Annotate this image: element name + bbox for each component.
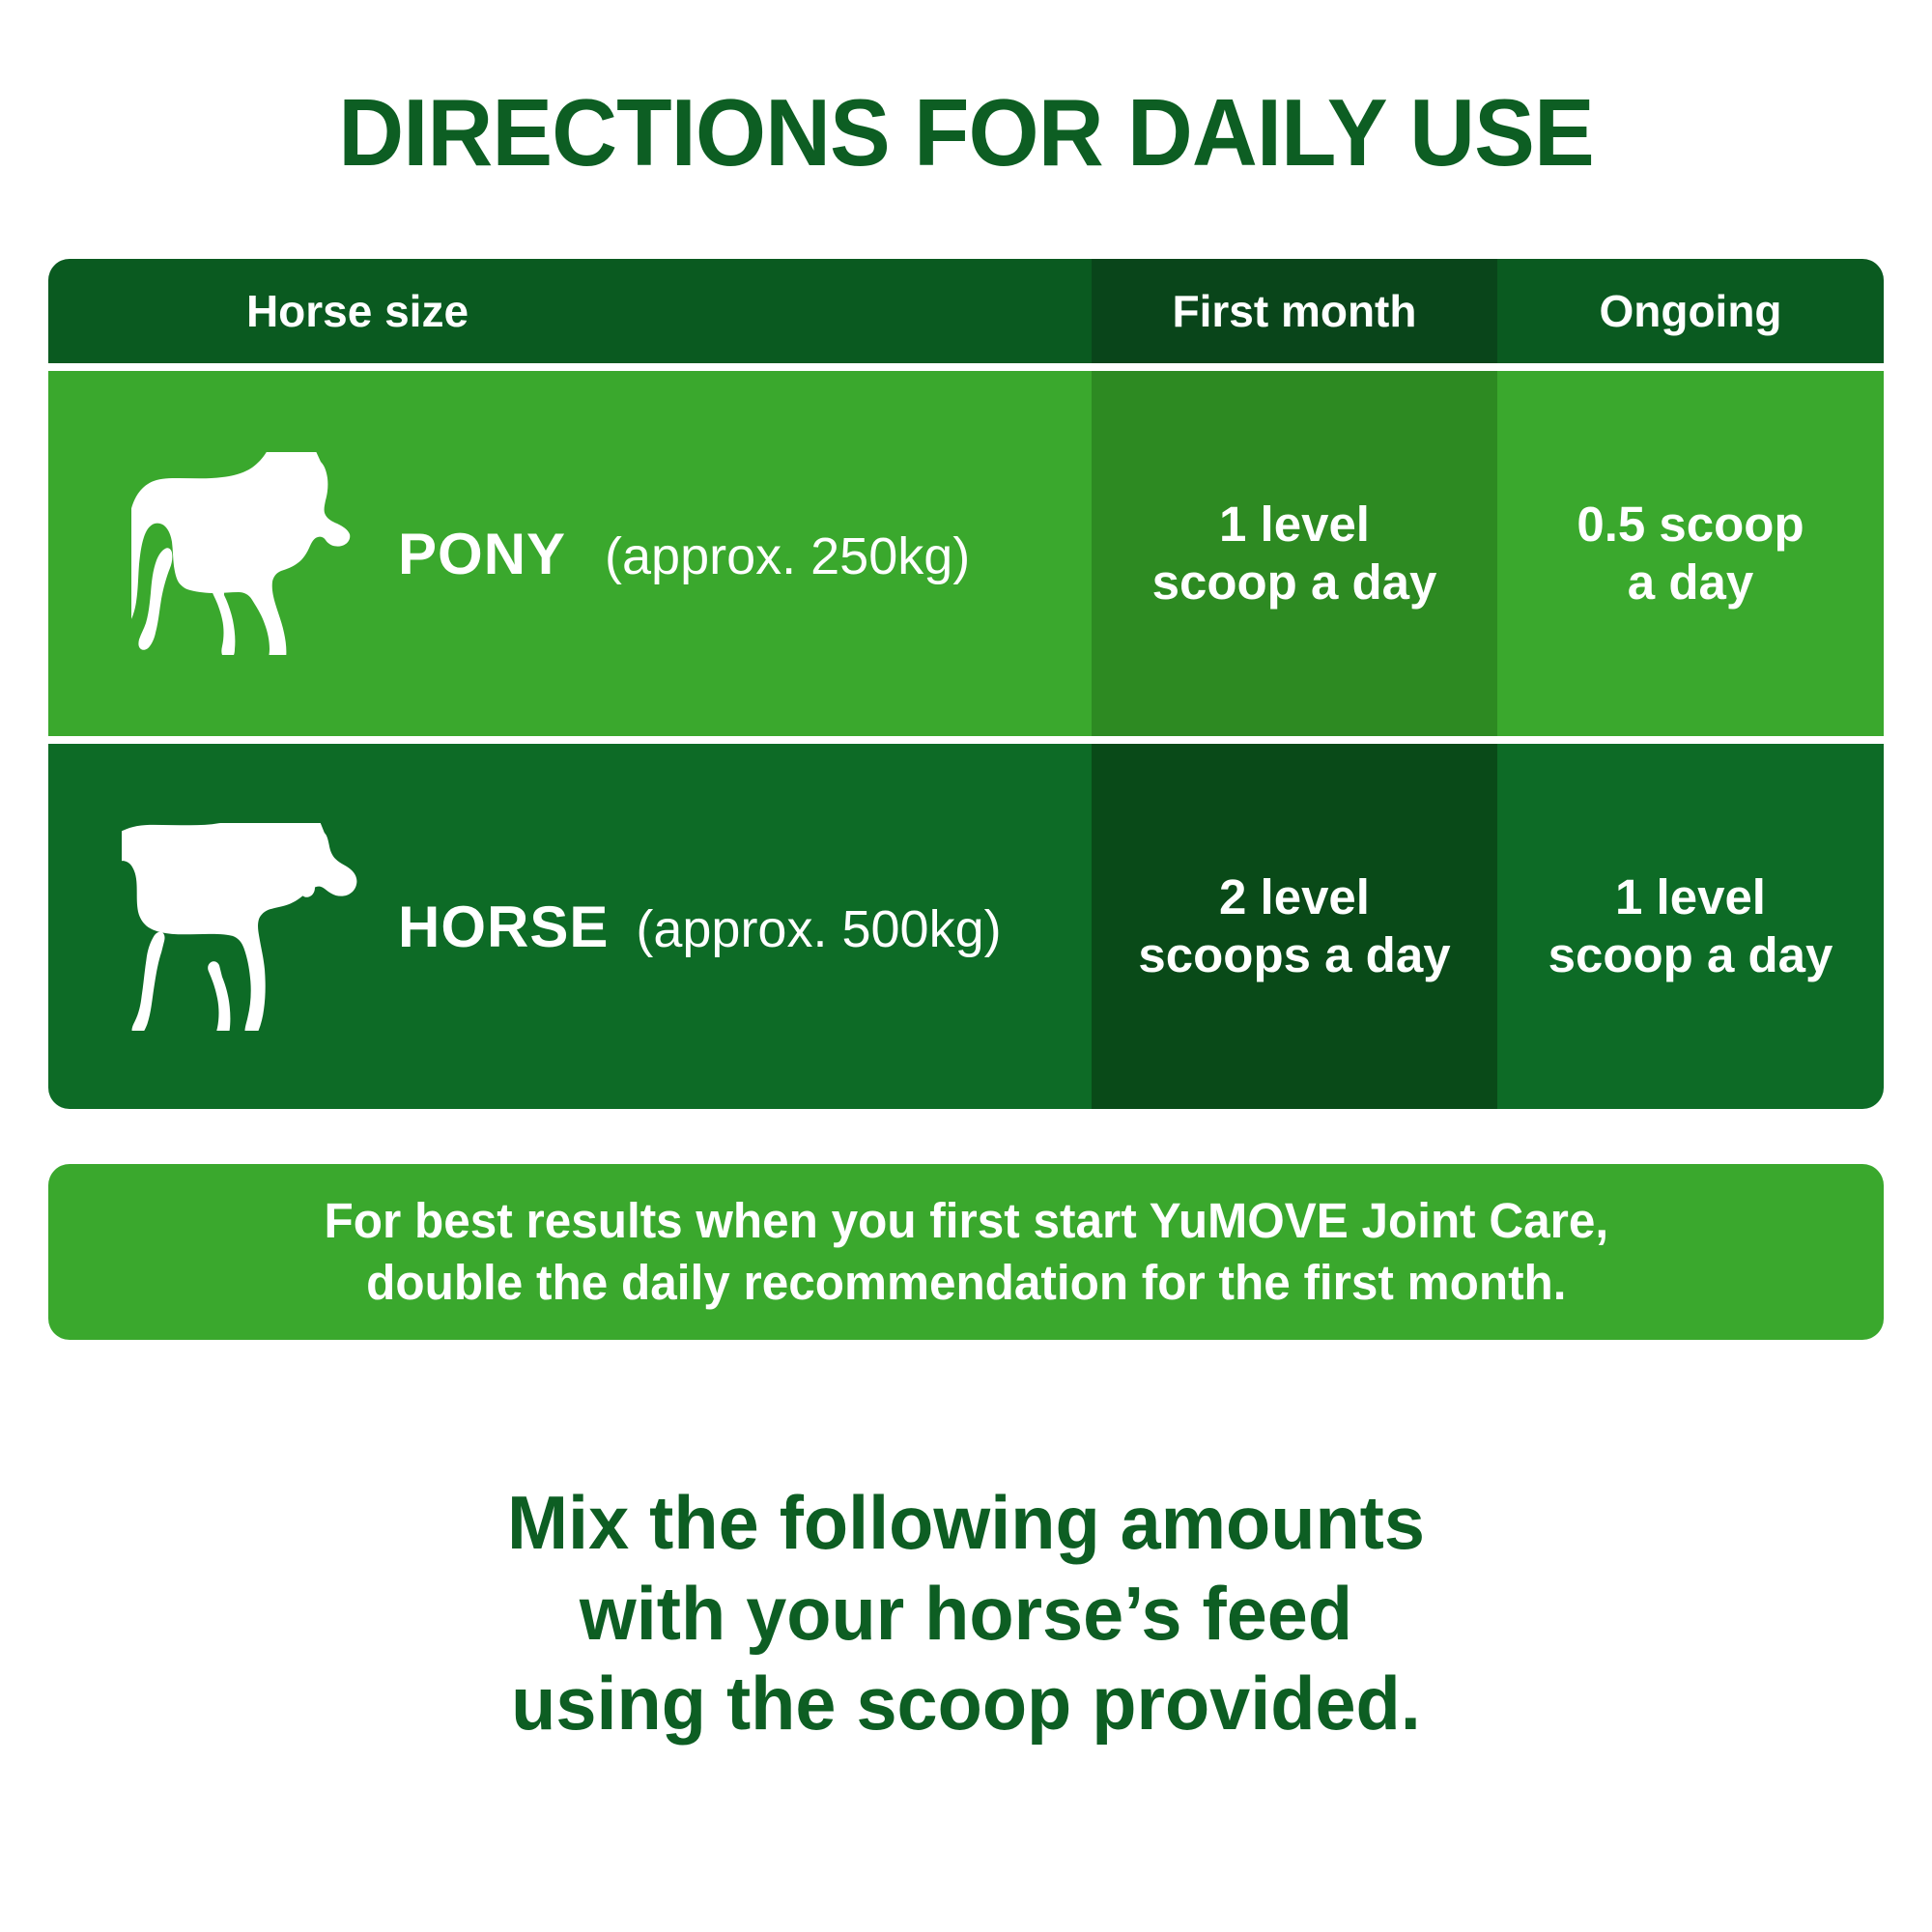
dosage-line-2: a day (1628, 554, 1753, 610)
header-label-ongoing: Ongoing (1497, 259, 1884, 363)
header-label-horse-size: Horse size (48, 259, 1092, 363)
row-cell-first-month-pony: 1 level scoop a day (1092, 371, 1497, 736)
pony-silhouette-icon (122, 433, 363, 674)
dosage-line-1: 2 level (1219, 869, 1370, 924)
table-row: HORSE (approx. 500kg) 2 level scoops a d… (48, 736, 1884, 1109)
dosage-line-1: 0.5 scoop (1577, 497, 1804, 552)
row-cell-size-horse: HORSE (approx. 500kg) (48, 744, 1092, 1109)
mixing-instructions: Mix the following amounts with your hors… (29, 1478, 1903, 1749)
row-cell-first-month-horse: 2 level scoops a day (1092, 744, 1497, 1109)
directions-panel: DIRECTIONS FOR DAILY USE Horse size Firs… (0, 0, 1932, 1932)
callout-line-1: For best results when you first start Yu… (324, 1193, 1608, 1248)
mixing-line-2: with your horse’s feed (29, 1569, 1903, 1660)
table-header-row: Horse size First month Ongoing (48, 259, 1884, 363)
row-cell-ongoing-horse: 1 level scoop a day (1497, 744, 1884, 1109)
mixing-line-1: Mix the following amounts (29, 1478, 1903, 1569)
dosage-table: Horse size First month Ongoing (48, 259, 1884, 1109)
animal-name: PONY (398, 521, 566, 587)
callout-line-2: double the daily recommendation for the … (366, 1255, 1566, 1310)
animal-weight: (approx. 500kg) (636, 899, 1001, 959)
best-results-callout: For best results when you first start Yu… (48, 1164, 1884, 1340)
dosage-line-1: 1 level (1615, 869, 1766, 924)
row-cell-size-pony: PONY (approx. 250kg) (48, 371, 1092, 736)
page-title: DIRECTIONS FOR DAILY USE (39, 85, 1893, 180)
dosage-line-2: scoop a day (1152, 554, 1437, 610)
header-cell-ongoing: Ongoing (1497, 259, 1884, 363)
row-cell-ongoing-pony: 0.5 scoop a day (1497, 371, 1884, 736)
horse-silhouette-icon (122, 806, 363, 1047)
header-label-first-month: First month (1092, 259, 1497, 363)
dosage-line-2: scoop a day (1548, 927, 1833, 982)
animal-weight: (approx. 250kg) (605, 526, 970, 586)
table-row: PONY (approx. 250kg) 1 level scoop a day… (48, 363, 1884, 736)
mixing-line-3: using the scoop provided. (29, 1659, 1903, 1749)
animal-name: HORSE (398, 894, 609, 960)
header-cell-horse-size: Horse size (48, 259, 1092, 363)
dosage-line-1: 1 level (1219, 497, 1370, 552)
dosage-line-2: scoops a day (1138, 927, 1450, 982)
header-cell-first-month: First month (1092, 259, 1497, 363)
